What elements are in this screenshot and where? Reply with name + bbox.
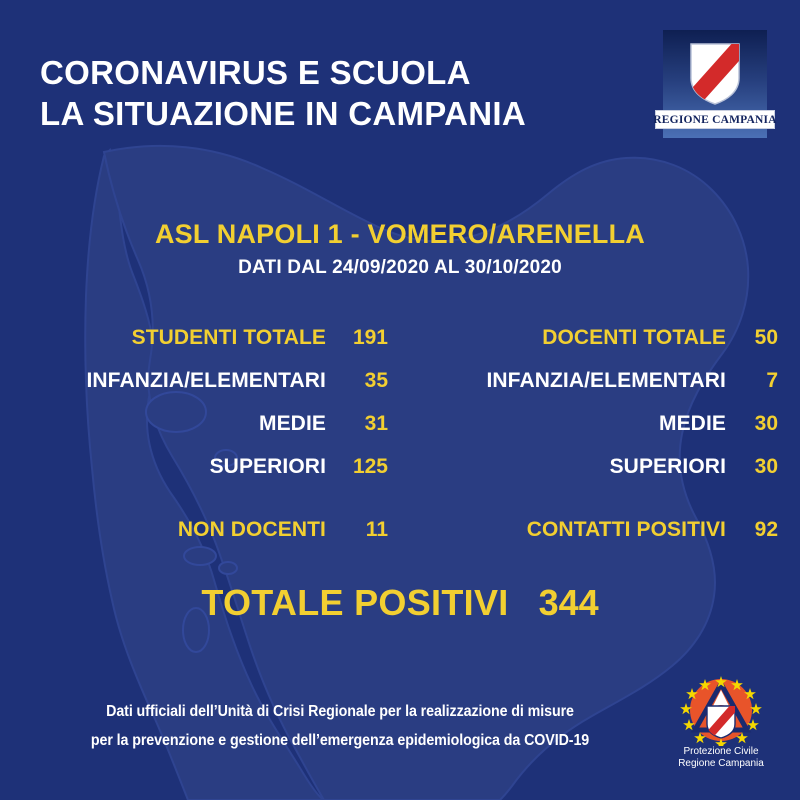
teachers-total-label: DOCENTI TOTALE	[542, 326, 726, 350]
non-docenti-value: 11	[326, 518, 388, 542]
regione-campania-caption-text: REGIONE CAMPANIA	[653, 114, 776, 126]
regione-campania-logo: REGIONE CAMPANIA	[655, 30, 775, 138]
contatti-positivi-label: CONTATTI POSITIVI	[527, 518, 726, 542]
students-column: STUDENTI TOTALE 191 INFANZIA/ELEMENTARI …	[0, 326, 400, 498]
teachers-superiori-value: 30	[726, 455, 778, 479]
students-infanzia-row: INFANZIA/ELEMENTARI 35	[0, 369, 388, 412]
protezione-civile-emblem-icon	[657, 676, 785, 746]
footer-line-1: Dati ufficiali dell’Unità di Crisi Regio…	[55, 697, 625, 726]
total-positive-label: TOTALE POSITIVI	[201, 582, 508, 624]
non-docenti-row: NON DOCENTI 11	[0, 518, 388, 561]
teachers-infanzia-row: INFANZIA/ELEMENTARI 7	[400, 369, 778, 412]
teachers-total-row: DOCENTI TOTALE 50	[400, 326, 778, 369]
teachers-infanzia-value: 7	[726, 369, 778, 393]
total-positive-row: TOTALE POSITIVI 344	[0, 582, 800, 624]
contatti-positivi-column: CONTATTI POSITIVI 92	[400, 518, 800, 561]
regione-campania-logo-caption: REGIONE CAMPANIA	[655, 110, 775, 129]
protezione-civile-caption: Protezione Civile Regione Campania	[657, 746, 785, 770]
page-title: CORONAVIRUS E SCUOLA LA SITUAZIONE IN CA…	[40, 52, 630, 134]
statistics-grid: STUDENTI TOTALE 191 INFANZIA/ELEMENTARI …	[0, 326, 800, 498]
title-line-2: LA SITUAZIONE IN CAMPANIA	[40, 93, 630, 134]
footer-disclaimer: Dati ufficiali dell’Unità di Crisi Regio…	[30, 697, 650, 755]
students-total-label: STUDENTI TOTALE	[132, 326, 326, 350]
contatti-positivi-value: 92	[726, 518, 778, 542]
asl-name: ASL NAPOLI 1 - VOMERO/ARENELLA	[0, 219, 800, 250]
teachers-total-value: 50	[726, 326, 778, 350]
total-positive-value: 344	[539, 582, 599, 624]
teachers-medie-label: MEDIE	[659, 412, 726, 436]
non-docenti-column: NON DOCENTI 11	[0, 518, 400, 561]
students-infanzia-value: 35	[326, 369, 388, 393]
protezione-civile-caption-line-2: Regione Campania	[657, 758, 785, 770]
students-superiori-value: 125	[326, 455, 388, 479]
teachers-infanzia-label: INFANZIA/ELEMENTARI	[486, 369, 726, 393]
teachers-superiori-row: SUPERIORI 30	[400, 455, 778, 498]
protezione-civile-caption-line-1: Protezione Civile	[657, 746, 785, 758]
students-superiori-label: SUPERIORI	[210, 455, 326, 479]
teachers-column: DOCENTI TOTALE 50 INFANZIA/ELEMENTARI 7 …	[400, 326, 800, 498]
footer-line-2: per la prevenzione e gestione dell’emerg…	[55, 726, 625, 755]
teachers-medie-value: 30	[726, 412, 778, 436]
contatti-positivi-row: CONTATTI POSITIVI 92	[400, 518, 778, 561]
students-superiori-row: SUPERIORI 125	[0, 455, 388, 498]
students-medie-value: 31	[326, 412, 388, 436]
students-infanzia-label: INFANZIA/ELEMENTARI	[86, 369, 326, 393]
teachers-medie-row: MEDIE 30	[400, 412, 778, 455]
non-docenti-label: NON DOCENTI	[178, 518, 326, 542]
campania-shield-icon	[689, 42, 741, 106]
date-range: DATI DAL 24/09/2020 AL 30/10/2020	[0, 257, 800, 279]
title-line-1: CORONAVIRUS E SCUOLA	[40, 52, 630, 93]
students-medie-label: MEDIE	[259, 412, 326, 436]
protezione-civile-logo: Protezione Civile Regione Campania	[657, 676, 785, 780]
teachers-superiori-label: SUPERIORI	[610, 455, 726, 479]
secondary-stats-row: NON DOCENTI 11 CONTATTI POSITIVI 92	[0, 518, 800, 561]
students-medie-row: MEDIE 31	[0, 412, 388, 455]
students-total-value: 191	[326, 326, 388, 350]
infographic-poster: CORONAVIRUS E SCUOLA LA SITUAZIONE IN CA…	[0, 0, 800, 800]
students-total-row: STUDENTI TOTALE 191	[0, 326, 388, 369]
